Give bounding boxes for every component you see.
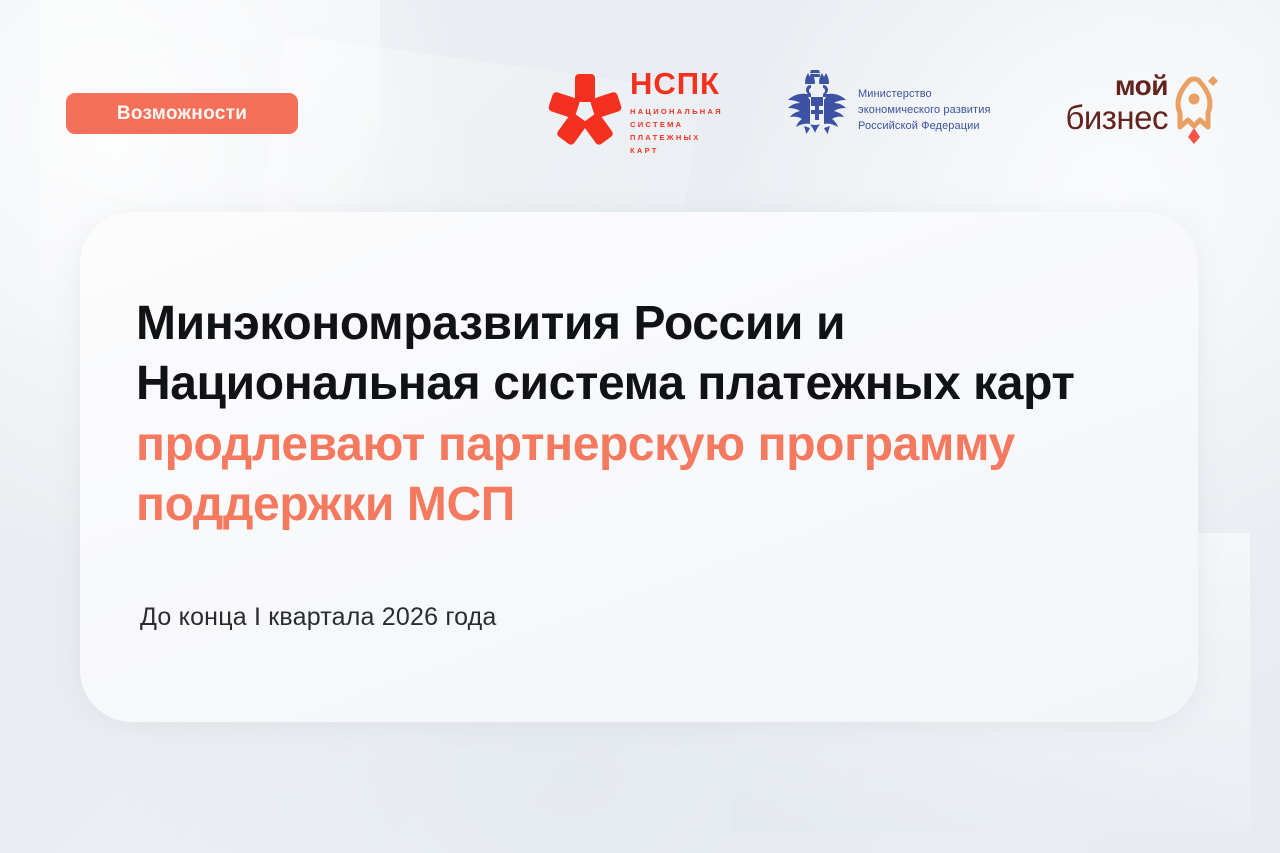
moy-biznes-logo: мой бизнес — [1040, 72, 1220, 150]
headline-line-1: Минэкономразвития России и — [136, 294, 1176, 354]
headline-line-2: Национальная система платежных карт — [136, 354, 1176, 414]
nspk-subtitle-line-3: ПЛАТЕЖНЫХ — [630, 131, 723, 144]
category-badge: Возможности — [66, 93, 298, 134]
nspk-logo-title: НСПК — [630, 68, 723, 99]
category-badge-label: Возможности — [117, 104, 247, 123]
ministry-text-line-1: Министерство — [858, 87, 991, 103]
moy-biznes-word-top: мой — [1040, 72, 1168, 100]
moy-biznes-logo-text: мой бизнес — [1040, 72, 1168, 134]
russian-double-headed-eagle-icon — [784, 70, 846, 136]
ministry-text-line-3: Российской Федерации — [858, 119, 991, 135]
headline-line-4: поддержки МСП — [136, 475, 1176, 535]
ministry-logo-text: Министерство экономического развития Рос… — [858, 87, 991, 135]
headline: Минэкономразвития России и Национальная … — [136, 294, 1176, 536]
nspk-subtitle-line-2: СИСТЕМА — [630, 118, 723, 131]
nspk-logo-subtitle: НАЦИОНАЛЬНАЯ СИСТЕМА ПЛАТЕЖНЫХ КАРТ — [630, 105, 723, 158]
nspk-star-icon — [548, 72, 622, 144]
content-card: Минэкономразвития России и Национальная … — [80, 212, 1198, 722]
nspk-subtitle-line-4: КАРТ — [630, 144, 723, 157]
ministry-logo: Министерство экономического развития Рос… — [784, 70, 999, 146]
moy-biznes-word-bottom: бизнес — [1040, 101, 1168, 134]
nspk-subtitle-line-1: НАЦИОНАЛЬНАЯ — [630, 105, 723, 118]
nspk-logo: НСПК НАЦИОНАЛЬНАЯ СИСТЕМА ПЛАТЕЖНЫХ КАРТ — [548, 68, 738, 148]
nspk-logo-text: НСПК НАЦИОНАЛЬНАЯ СИСТЕМА ПЛАТЕЖНЫХ КАРТ — [630, 68, 723, 158]
rocket-pin-icon — [1168, 68, 1220, 144]
slide-root: Возможности НСПК НАЦИОНАЛЬНАЯ СИСТЕМА ПЛ… — [0, 0, 1280, 853]
subtitle: До конца I квартала 2026 года — [140, 602, 497, 632]
ministry-text-line-2: экономического развития — [858, 103, 991, 119]
headline-line-3: продлевают партнерскую программу — [136, 415, 1176, 475]
